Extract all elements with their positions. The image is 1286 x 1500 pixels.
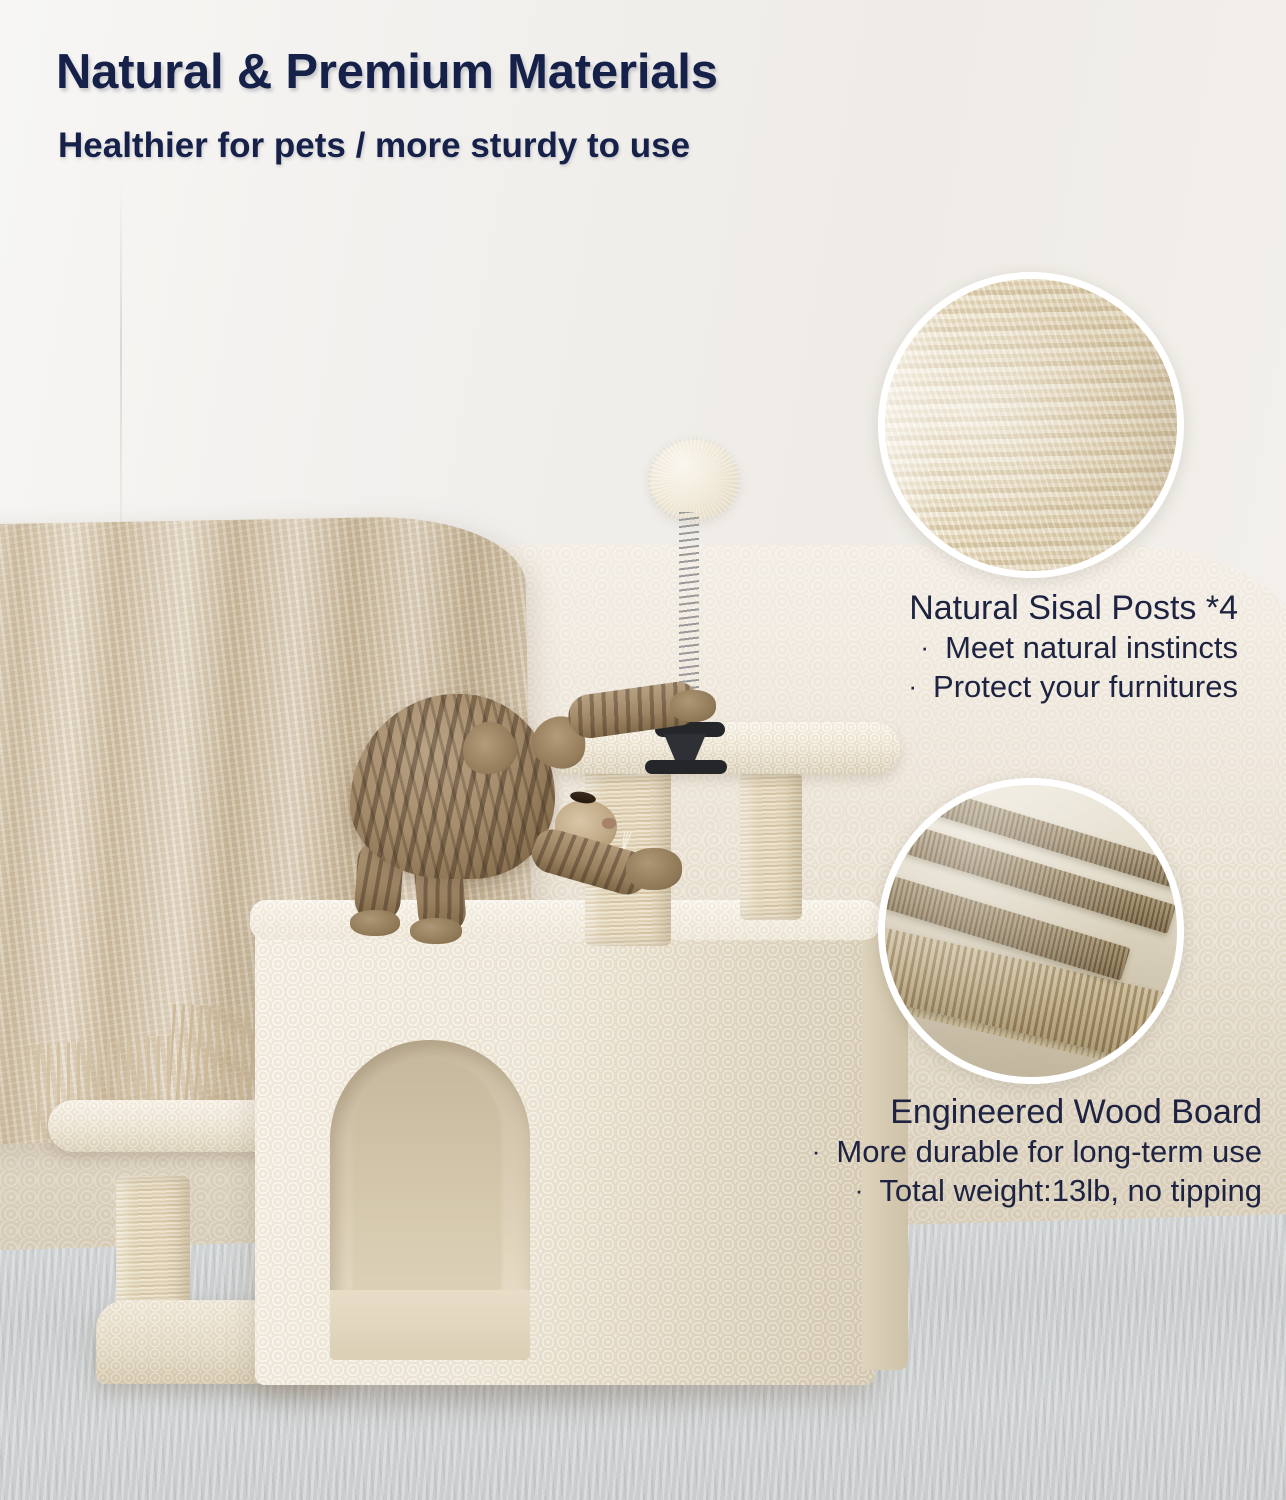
feature-block-sisal: Natural Sisal Posts *4 ·Meet natural ins… xyxy=(908,588,1238,706)
feature-bullet-text: More durable for long-term use xyxy=(836,1134,1262,1169)
sisal-shading xyxy=(885,279,1177,571)
condo-floor-pad xyxy=(330,1290,530,1360)
cat-paw-front xyxy=(626,848,682,890)
feature-bullet-sisal-1: ·Meet natural instincts xyxy=(908,628,1238,667)
feature-bullet-text: Total weight:13lb, no tipping xyxy=(879,1173,1262,1208)
feature-bullet-wood-1: ·More durable for long-term use xyxy=(812,1132,1262,1171)
wood-shading xyxy=(885,785,1177,1077)
page-title: Natural & Premium Materials xyxy=(56,44,956,100)
pom-pom-ball-toy xyxy=(650,440,738,520)
tabby-cat xyxy=(340,672,670,942)
sisal-post-upper-right xyxy=(740,772,802,920)
bullet-dot-icon: · xyxy=(855,1174,864,1207)
product-feature-image: Natural & Premium Materials Healthier fo… xyxy=(0,0,1286,1500)
page-subtitle: Healthier for pets / more sturdy to use xyxy=(58,126,958,166)
wood-board-closeup-icon xyxy=(878,778,1184,1084)
feature-bullet-text: Protect your furnitures xyxy=(933,669,1238,704)
feature-bullet-text: Meet natural instincts xyxy=(945,630,1238,665)
feature-bullet-sisal-2: ·Protect your furnitures xyxy=(908,667,1238,706)
sisal-rope-closeup-icon xyxy=(878,272,1184,578)
cat-paw-rear-right xyxy=(410,918,462,944)
feature-title-sisal: Natural Sisal Posts *4 xyxy=(908,588,1238,628)
bullet-dot-icon: · xyxy=(908,670,917,703)
feature-title-wood: Engineered Wood Board xyxy=(812,1092,1262,1132)
feature-bullet-wood-2: ·Total weight:13lb, no tipping xyxy=(812,1171,1262,1210)
feature-block-wood: Engineered Wood Board ·More durable for … xyxy=(812,1092,1262,1210)
bullet-dot-icon: · xyxy=(920,631,929,664)
cat-nose xyxy=(602,818,616,829)
cat-paw-raised xyxy=(670,690,716,722)
cat-paw-rear-left xyxy=(350,910,400,936)
bullet-dot-icon: · xyxy=(812,1135,821,1168)
